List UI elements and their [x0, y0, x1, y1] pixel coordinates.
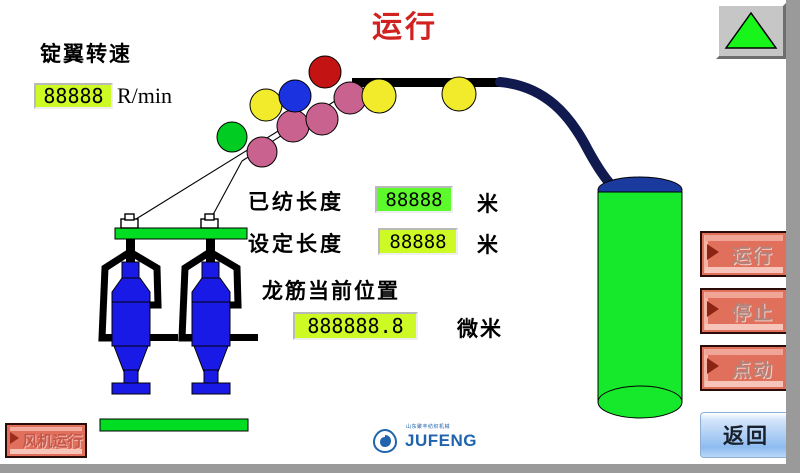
- flyer-circle: [442, 77, 476, 111]
- flyer-circle: [279, 80, 311, 112]
- flyer-circle: [247, 137, 277, 167]
- spindle-bolt-right-cap: [205, 214, 214, 220]
- can-body: [598, 192, 682, 402]
- logo-wordmark: JUFENG: [405, 431, 477, 451]
- page-title: 运行: [325, 2, 485, 46]
- flyer-circle: [250, 89, 282, 121]
- jog-button-label: 点动: [720, 355, 786, 382]
- spun-length-unit: 米: [477, 188, 498, 218]
- current-position-value[interactable]: 888888.8: [293, 312, 418, 340]
- bobbin-taper: [114, 346, 148, 372]
- jog-button[interactable]: 点动: [700, 345, 788, 391]
- run-button[interactable]: 运行: [700, 231, 788, 277]
- top-green-rail: [115, 228, 247, 239]
- bobbin-barrel: [112, 302, 150, 346]
- set-length-label: 设定长度: [248, 228, 344, 258]
- set-length-value[interactable]: 88888: [378, 228, 458, 255]
- current-position-unit: 微米: [457, 313, 503, 343]
- back-button-label: 返回: [723, 420, 769, 450]
- flyer-circle: [306, 103, 338, 135]
- flyer-circle: [277, 110, 309, 142]
- play-arrow-icon: [9, 431, 20, 450]
- bevel-bottom: [705, 381, 783, 387]
- flyer-circle: [362, 79, 396, 113]
- bobbin-neck: [122, 262, 139, 278]
- back-button[interactable]: 返回: [700, 412, 792, 458]
- logo-subtext: 山东聚丰纺织机械: [406, 423, 450, 430]
- spindle-speed-label: 锭翼转速: [40, 38, 132, 68]
- hmi-screen: 运行 锭翼转速 88888 R/min 已纺长度 88888 米 设定长度 88…: [0, 0, 800, 473]
- spun-length-value[interactable]: 88888: [375, 186, 453, 213]
- green-triangle-up-icon: [724, 11, 778, 51]
- bobbin-foot-stem: [124, 370, 138, 384]
- spun-length-label: 已纺长度: [248, 186, 344, 216]
- fan-run-button-label: 风机运行: [20, 430, 85, 451]
- set-length-unit: 米: [477, 229, 498, 259]
- bottom-green-rail: [100, 419, 248, 431]
- stop-button[interactable]: 停止: [700, 288, 788, 334]
- play-arrow-icon: [706, 300, 720, 323]
- bobbin-taper: [194, 346, 228, 372]
- bottom-panel-rail: [0, 464, 800, 473]
- flyer-circle: [217, 122, 247, 152]
- flyer-circle: [309, 56, 341, 88]
- play-arrow-icon: [706, 243, 720, 266]
- sliver-pipe: [500, 82, 614, 188]
- bobbin-foot-stem: [204, 370, 218, 384]
- company-logo: 山东聚丰纺织机械 JUFENG: [364, 420, 474, 460]
- bobbin-foot: [192, 383, 230, 394]
- right-panel-rail: [786, 0, 800, 465]
- bobbin-assembly-right: [182, 239, 258, 394]
- flyer-circle-group: [217, 56, 476, 167]
- bobbin-barrel: [192, 302, 230, 346]
- bevel-bottom: [705, 267, 783, 273]
- spindle-speed-unit: R/min: [117, 83, 172, 109]
- spindle-bolt-left-cap: [125, 214, 134, 220]
- fan-run-button[interactable]: 风机运行: [5, 423, 87, 458]
- bobbin-foot: [112, 383, 150, 394]
- flyer-circle: [334, 82, 366, 114]
- run-button-label: 运行: [720, 241, 786, 268]
- spindle-speed-value[interactable]: 88888: [34, 83, 113, 109]
- bobbin-assembly-left: [102, 239, 178, 394]
- current-position-label: 龙筋当前位置: [262, 275, 400, 305]
- can-bottom: [598, 386, 682, 418]
- bevel-bottom: [705, 324, 783, 330]
- scroll-up-button[interactable]: [716, 3, 786, 59]
- bobbin-neck: [202, 262, 219, 278]
- stop-button-label: 停止: [720, 298, 786, 325]
- jufeng-swirl-icon: [372, 428, 398, 459]
- play-arrow-icon: [706, 357, 720, 380]
